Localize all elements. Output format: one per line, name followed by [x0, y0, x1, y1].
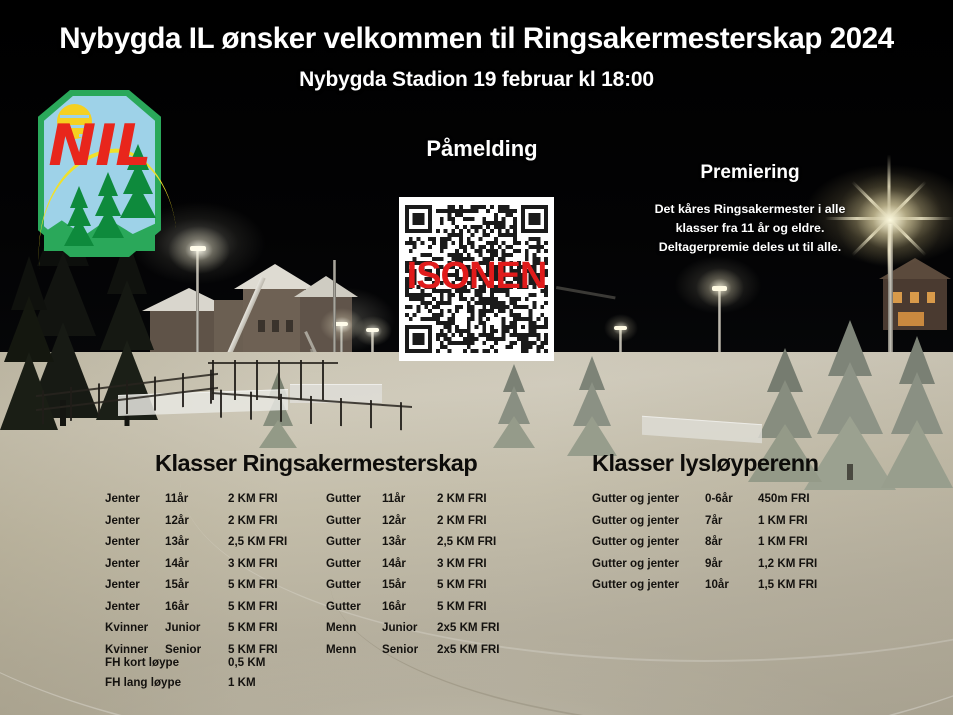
table-cell-group: Gutter og jenter — [592, 514, 705, 527]
table-cell-distance: 3 KM FRI — [228, 557, 278, 570]
table-cell-group: Gutter og jenter — [592, 492, 705, 505]
table-cell-group: Jenter — [105, 535, 165, 548]
table-row: Jenter13år2,5 KM FRI — [105, 531, 287, 553]
qr-overlay-label: ISONEN — [399, 255, 554, 298]
table-cell-age: 12år — [382, 514, 437, 527]
table-cell-age: 11år — [382, 492, 437, 505]
table-row: Gutter og jenter10år1,5 KM FRI — [592, 574, 817, 596]
table-cell-group: Jenter — [105, 557, 165, 570]
table-cell-age: 13år — [382, 535, 437, 548]
tree-snow-covered — [880, 336, 953, 484]
table-cell-distance: 2,5 KM FRI — [228, 535, 287, 548]
table-row: Gutter12år2 KM FRI — [326, 510, 500, 532]
registration-title: Påmelding — [322, 136, 642, 162]
club-logo-letters: NIL — [38, 118, 161, 175]
table-cell-age: 14år — [165, 557, 228, 570]
registration-qr-code[interactable]: ISONEN — [399, 197, 554, 361]
table-cell-age: 11år — [165, 492, 228, 505]
sponsor-strip: SpareBank ØSTLANDET 1 Eidsiva sport 1 su… — [0, 652, 953, 715]
class-table-boys: Gutter11år2 KM FRIGutter12år2 KM FRIGutt… — [326, 488, 500, 660]
table-cell-group: Menn — [326, 621, 382, 634]
table-cell-distance: 2,5 KM FRI — [437, 535, 496, 548]
table-cell-age: 13år — [165, 535, 228, 548]
table-cell-age: Junior — [382, 621, 437, 634]
table-row: Gutter og jenter0-6år450m FRI — [592, 488, 817, 510]
table-cell-age: 12år — [165, 514, 228, 527]
table-cell-group: Gutter og jenter — [592, 578, 705, 591]
table-row: Gutter og jenter9år1,2 KM FRI — [592, 553, 817, 575]
window-dark — [258, 320, 265, 332]
table-cell-age: 15år — [165, 578, 228, 591]
table-cell-group: Jenter — [105, 578, 165, 591]
table-row: KvinnerJunior5 KM FRI — [105, 617, 287, 639]
section-title-championship: Klasser Ringsakermesterskap — [155, 450, 477, 477]
roof-right-wing — [294, 276, 358, 297]
table-row: Gutter13år2,5 KM FRI — [326, 531, 500, 553]
section-title-lit-trail: Klasser lysløyperenn — [592, 450, 818, 477]
table-cell-age: 10år — [705, 578, 758, 591]
class-table-girls: Jenter11år2 KM FRIJenter12år2 KM FRIJent… — [105, 488, 287, 660]
table-cell-group: Jenter — [105, 492, 165, 505]
window-dark — [272, 320, 279, 332]
table-cell-age: 0-6år — [705, 492, 758, 505]
table-row: Jenter15år5 KM FRI — [105, 574, 287, 596]
awards-title: Premiering — [600, 162, 900, 184]
table-cell-group: Gutter — [326, 492, 382, 505]
table-cell-group: Gutter — [326, 600, 382, 613]
table-cell-distance: 1 KM FRI — [758, 535, 808, 548]
table-cell-distance: 450m FRI — [758, 492, 810, 505]
table-cell-group: Gutter — [326, 535, 382, 548]
table-row: MennJunior2x5 KM FRI — [326, 617, 500, 639]
table-row: Gutter15år5 KM FRI — [326, 574, 500, 596]
window-dark — [286, 320, 293, 332]
table-cell-age: 14år — [382, 557, 437, 570]
poster-canvas: Nybygda IL ønsker velkommen til Ringsake… — [0, 0, 953, 715]
table-cell-group: Jenter — [105, 600, 165, 613]
table-row: Gutter og jenter8år1 KM FRI — [592, 531, 817, 553]
lit-window — [893, 292, 902, 303]
table-cell-age: 7år — [705, 514, 758, 527]
table-cell-group: Gutter — [326, 557, 382, 570]
table-row: Gutter11år2 KM FRI — [326, 488, 500, 510]
table-cell-age: Junior — [165, 621, 228, 634]
lit-window — [910, 292, 919, 303]
table-cell-distance: 2 KM FRI — [228, 492, 278, 505]
table-row: Gutter16år5 KM FRI — [326, 596, 500, 618]
awards-line: klasser fra 11 år og eldre. — [612, 219, 888, 238]
table-cell-distance: 3 KM FRI — [437, 557, 487, 570]
table-cell-distance: 5 KM FRI — [228, 621, 278, 634]
table-row: Jenter16år5 KM FRI — [105, 596, 287, 618]
table-cell-distance: 2 KM FRI — [228, 514, 278, 527]
page-title: Nybygda IL ønsker velkommen til Ringsake… — [0, 22, 953, 56]
table-cell-group: Gutter — [326, 514, 382, 527]
table-cell-distance: 5 KM FRI — [437, 578, 487, 591]
table-cell-age: 8år — [705, 535, 758, 548]
fir-tree-icon — [64, 186, 94, 244]
lit-window — [927, 292, 935, 303]
event-venue-datetime: Nybygda Stadion 19 februar kl 18:00 — [0, 68, 953, 92]
table-cell-group: Gutter og jenter — [592, 535, 705, 548]
table-row: Jenter11år2 KM FRI — [105, 488, 287, 510]
table-cell-distance: 2 KM FRI — [437, 514, 487, 527]
table-cell-distance: 1,5 KM FRI — [758, 578, 817, 591]
table-cell-distance: 5 KM FRI — [228, 578, 278, 591]
table-row: Gutter14år3 KM FRI — [326, 553, 500, 575]
table-cell-distance: 1,2 KM FRI — [758, 557, 817, 570]
fir-tree-icon — [92, 172, 124, 234]
table-cell-distance: 5 KM FRI — [228, 600, 278, 613]
table-cell-age: 9år — [705, 557, 758, 570]
awards-line: Det kåres Ringsakermester i alle — [612, 200, 888, 219]
table-row: Jenter12år2 KM FRI — [105, 510, 287, 532]
table-row: Gutter og jenter7år1 KM FRI — [592, 510, 817, 532]
table-cell-age: 16år — [382, 600, 437, 613]
table-cell-distance: 2x5 KM FRI — [437, 621, 500, 634]
awards-description: Det kåres Ringsakermester i alleklasser … — [612, 200, 888, 258]
table-cell-distance: 1 KM FRI — [758, 514, 808, 527]
table-cell-group: Gutter og jenter — [592, 557, 705, 570]
table-row: Jenter14år3 KM FRI — [105, 553, 287, 575]
table-cell-age: 16år — [165, 600, 228, 613]
table-cell-group: Gutter — [326, 578, 382, 591]
tree-snow-covered — [566, 356, 618, 452]
class-table-lit-trail: Gutter og jenter0-6år450m FRIGutter og j… — [592, 488, 817, 596]
lamp-starburst — [888, 216, 890, 218]
table-cell-distance: 5 KM FRI — [437, 600, 487, 613]
table-cell-age: 15år — [382, 578, 437, 591]
table-cell-group: Kvinner — [105, 621, 165, 634]
tree-snow-covered — [492, 364, 536, 444]
awards-line: Deltagerpremie deles ut til alle. — [612, 238, 888, 257]
club-logo-nil: NIL — [38, 90, 161, 257]
table-cell-group: Jenter — [105, 514, 165, 527]
table-cell-distance: 2 KM FRI — [437, 492, 487, 505]
